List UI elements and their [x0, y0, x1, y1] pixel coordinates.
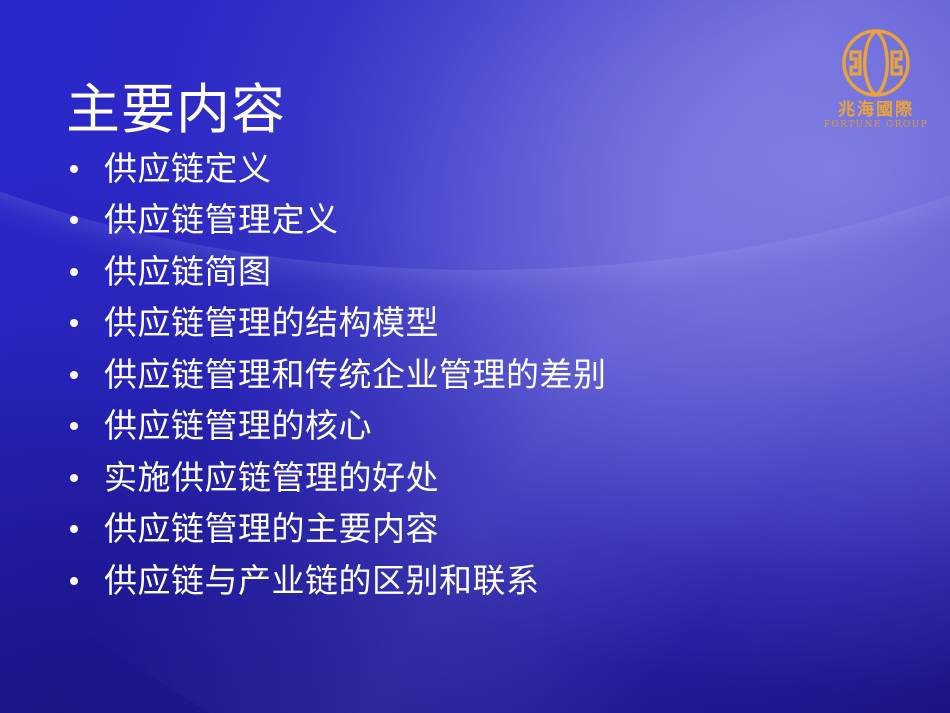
- presentation-slide: 主要内容 供应链定义 供应链管理定义 供应链简图 供应链管理的结构模型 供应链管…: [0, 0, 950, 713]
- list-item-label: 供应链管理的主要内容: [104, 509, 880, 549]
- list-item: 供应链管理定义: [60, 195, 880, 247]
- list-item: 供应链管理的结构模型: [60, 298, 880, 350]
- fortune-group-emblem-icon: [839, 26, 913, 100]
- list-item-label: 供应链定义: [104, 149, 880, 189]
- list-item: 供应链与产业链的区别和联系: [60, 555, 880, 607]
- list-item: 供应链定义: [60, 143, 880, 195]
- list-item-label: 供应链管理定义: [104, 200, 880, 240]
- company-logo: 兆海國際 FORTUNE GROUP: [817, 26, 935, 132]
- list-item: 供应链管理的主要内容: [60, 504, 880, 556]
- bullet-dot-icon: [70, 577, 78, 585]
- logo-chinese-name: 兆海國際: [817, 101, 935, 120]
- logo-english-name: FORTUNE GROUP: [817, 120, 935, 131]
- list-item: 供应链管理和传统企业管理的差别: [60, 349, 880, 401]
- list-item: 供应链简图: [60, 246, 880, 298]
- bullet-dot-icon: [70, 474, 78, 482]
- bullet-dot-icon: [70, 268, 78, 276]
- bullet-dot-icon: [70, 422, 78, 430]
- list-item-label: 供应链管理和传统企业管理的差别: [104, 355, 880, 395]
- bullet-list: 供应链定义 供应链管理定义 供应链简图 供应链管理的结构模型 供应链管理和传统企…: [60, 143, 880, 607]
- list-item: 实施供应链管理的好处: [60, 452, 880, 504]
- bullet-dot-icon: [70, 319, 78, 327]
- bullet-dot-icon: [70, 371, 78, 379]
- list-item-label: 供应链简图: [104, 252, 880, 292]
- bullet-dot-icon: [70, 216, 78, 224]
- list-item: 供应链管理的核心: [60, 401, 880, 453]
- list-item-label: 实施供应链管理的好处: [104, 458, 880, 498]
- list-item-label: 供应链与产业链的区别和联系: [104, 561, 880, 601]
- slide-title: 主要内容: [66, 78, 286, 142]
- list-item-label: 供应链管理的核心: [104, 406, 880, 446]
- list-item-label: 供应链管理的结构模型: [104, 303, 880, 343]
- bullet-dot-icon: [70, 165, 78, 173]
- bullet-dot-icon: [70, 525, 78, 533]
